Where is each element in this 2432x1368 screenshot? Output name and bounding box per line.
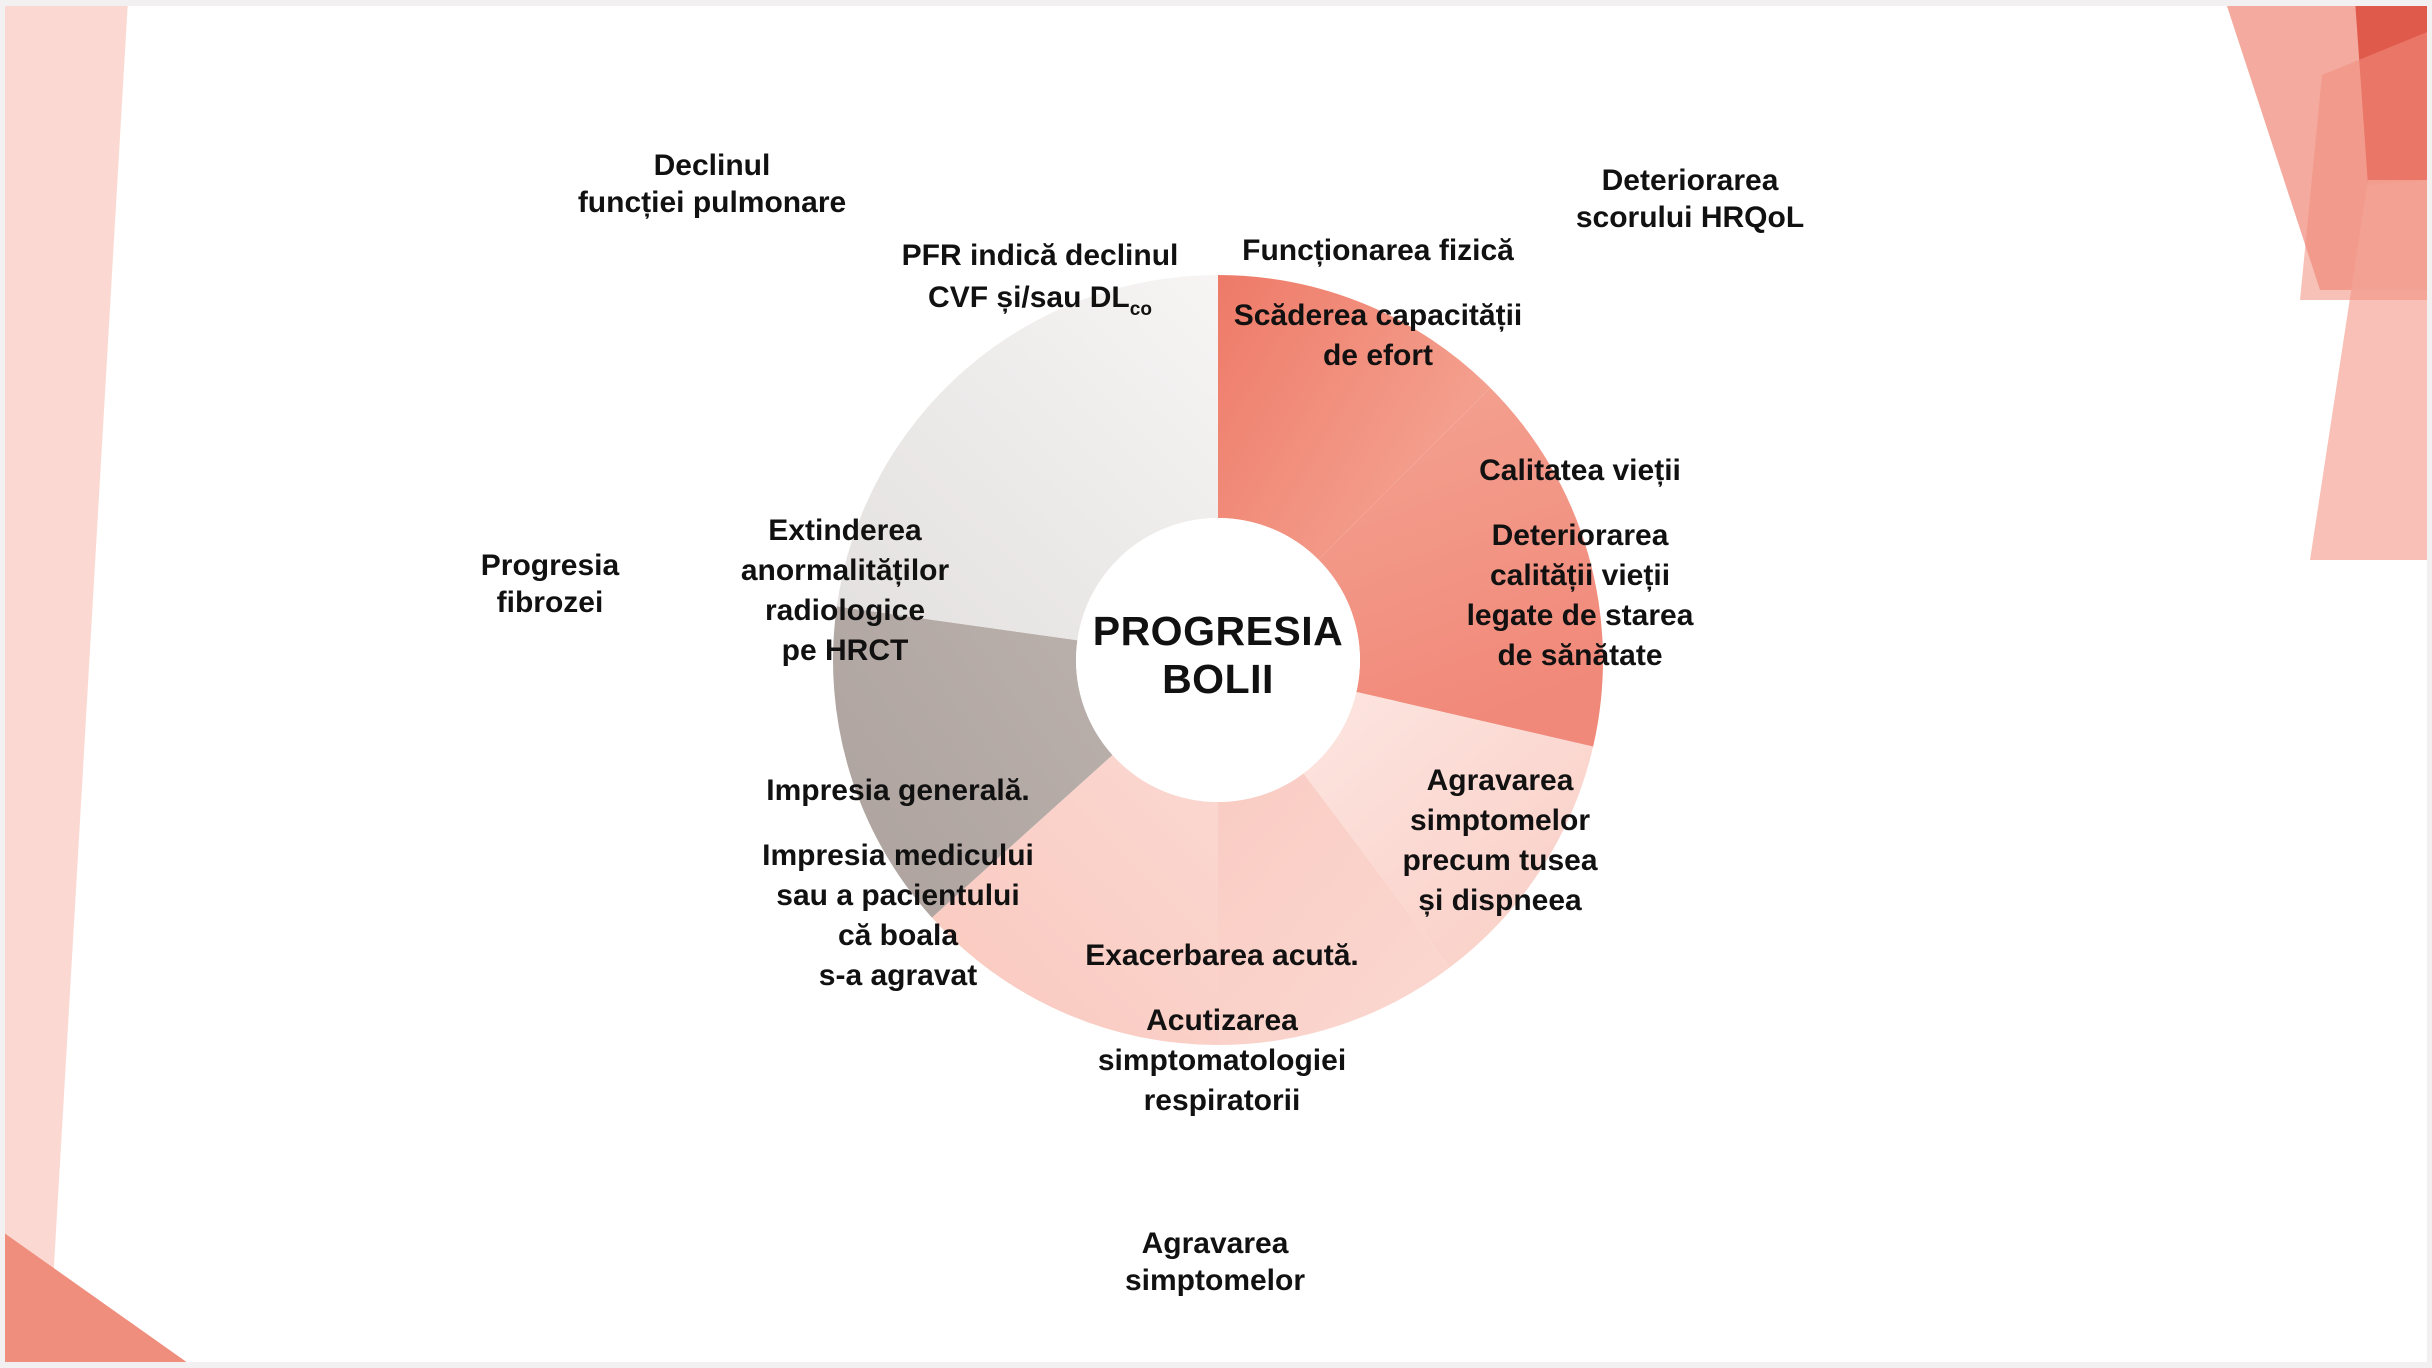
block-calitatea-vietii-line-2: Deteriorarea (1492, 519, 1669, 552)
block-pfr-line-0: PFR indică declinul (902, 239, 1179, 272)
block-impresia-generala-line-5: s-a agravat (819, 959, 977, 992)
outer-label-deteriorarea-scorului-hrqol-line1: Deteriorarea (1602, 164, 1779, 197)
center-title-line1: PROGRESIA (1093, 608, 1344, 654)
block-exacerbarea-acuta-line-4: respiratorii (1144, 1084, 1301, 1117)
block-exacerbarea-acuta-line-3: simptomatologiei (1098, 1044, 1346, 1077)
outer-label-deteriorarea-scorului-hrqol-line2: scorului HRQoL (1576, 201, 1804, 234)
block-agravarea-tusea-line-1: simptomelor (1410, 804, 1590, 837)
block-exacerbarea-acuta-line-2: Acutizarea (1146, 1004, 1298, 1037)
outer-label-declinul-functiei-pulmonare-line2: funcției pulmonare (578, 186, 846, 219)
block-pfr-subscript: co (1130, 299, 1152, 320)
diagram-svg: PROGRESIA BOLII Funcționarea fizicăScăde… (0, 0, 2432, 1368)
block-impresia-generala-line-2: Impresia medicului (762, 839, 1034, 872)
block-functionarea-fizica-line-0: Funcționarea fizică (1242, 234, 1514, 267)
diagram-canvas: PROGRESIA BOLII Funcționarea fizicăScăde… (0, 0, 2432, 1368)
frame-top-edge (0, 0, 2432, 6)
block-extinderea-line-3: pe HRCT (782, 634, 909, 667)
block-extinderea-line-0: Extinderea (768, 514, 922, 547)
block-impresia-generala-line-3: sau a pacientului (776, 879, 1019, 912)
block-calitatea-vietii: Calitatea viețiiDeteriorareacalității vi… (1467, 454, 1694, 672)
outer-label-progresia-fibrozei-line1: Progresia (481, 549, 620, 582)
frame-right-edge (2427, 0, 2432, 1368)
block-functionarea-fizica-line-3: de efort (1323, 339, 1433, 372)
outer-label-agravarea-simptomelor-line1: Agravarea (1142, 1227, 1289, 1260)
frame-left-edge (0, 0, 5, 1368)
block-calitatea-vietii-line-3: calității vieții (1490, 559, 1670, 592)
block-extinderea-line-1: anormalităților (741, 554, 950, 587)
block-calitatea-vietii-line-4: legate de starea (1467, 599, 1694, 632)
block-agravarea-tusea-line-0: Agravarea (1427, 764, 1574, 797)
frame-bottom-edge (0, 1362, 2432, 1368)
block-exacerbarea-acuta-line-0: Exacerbarea acută. (1085, 939, 1359, 972)
block-functionarea-fizica-line-2: Scăderea capacității (1234, 299, 1523, 332)
block-calitatea-vietii-line-5: de sănătate (1497, 639, 1662, 672)
outer-label-declinul-functiei-pulmonare-line1: Declinul (654, 149, 771, 182)
block-agravarea-tusea-line-3: și dispneea (1418, 884, 1582, 917)
center-title-line2: BOLII (1162, 656, 1274, 702)
block-impresia-generala-line-0: Impresia generală. (766, 774, 1029, 807)
block-extinderea-line-2: radiologice (765, 594, 925, 627)
outer-label-agravarea-simptomelor-line2: simptomelor (1125, 1264, 1305, 1297)
block-agravarea-tusea-line-2: precum tusea (1402, 844, 1597, 877)
block-impresia-generala-line-4: că boala (838, 919, 958, 952)
outer-label-progresia-fibrozei-line2: fibrozei (497, 586, 604, 619)
block-calitatea-vietii-line-0: Calitatea vieții (1479, 454, 1681, 487)
